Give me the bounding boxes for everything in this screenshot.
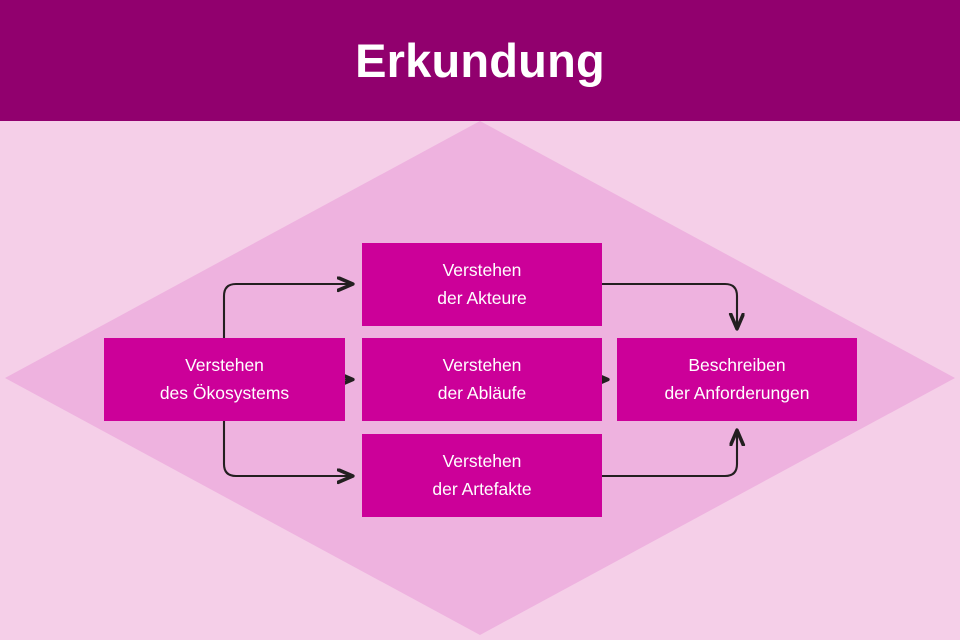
node-verstehen-des-oekosystems[interactable]: Verstehen des Ökosystems (104, 338, 345, 421)
node-label-line1: Verstehen (443, 352, 522, 379)
node-verstehen-der-akteure[interactable]: Verstehen der Akteure (362, 243, 602, 326)
node-beschreiben-der-anforderungen[interactable]: Beschreiben der Anforderungen (617, 338, 857, 421)
node-label-line2: der Artefakte (432, 476, 531, 503)
node-label-line2: des Ökosystems (160, 380, 289, 407)
node-label-line1: Verstehen (443, 257, 522, 284)
slide: Erkundung Verstehen des Ökosys (0, 0, 960, 640)
node-label-line1: Beschreiben (688, 352, 785, 379)
node-label-line2: der Anforderungen (665, 380, 810, 407)
header-banner: Erkundung (0, 0, 960, 121)
node-label-line1: Verstehen (443, 448, 522, 475)
node-verstehen-der-artefakte[interactable]: Verstehen der Artefakte (362, 434, 602, 517)
node-label-line2: der Akteure (437, 285, 527, 312)
node-label-line1: Verstehen (185, 352, 264, 379)
node-label-line2: der Abläufe (438, 380, 527, 407)
page-title: Erkundung (355, 37, 605, 84)
node-verstehen-der-ablaeufe[interactable]: Verstehen der Abläufe (362, 338, 602, 421)
